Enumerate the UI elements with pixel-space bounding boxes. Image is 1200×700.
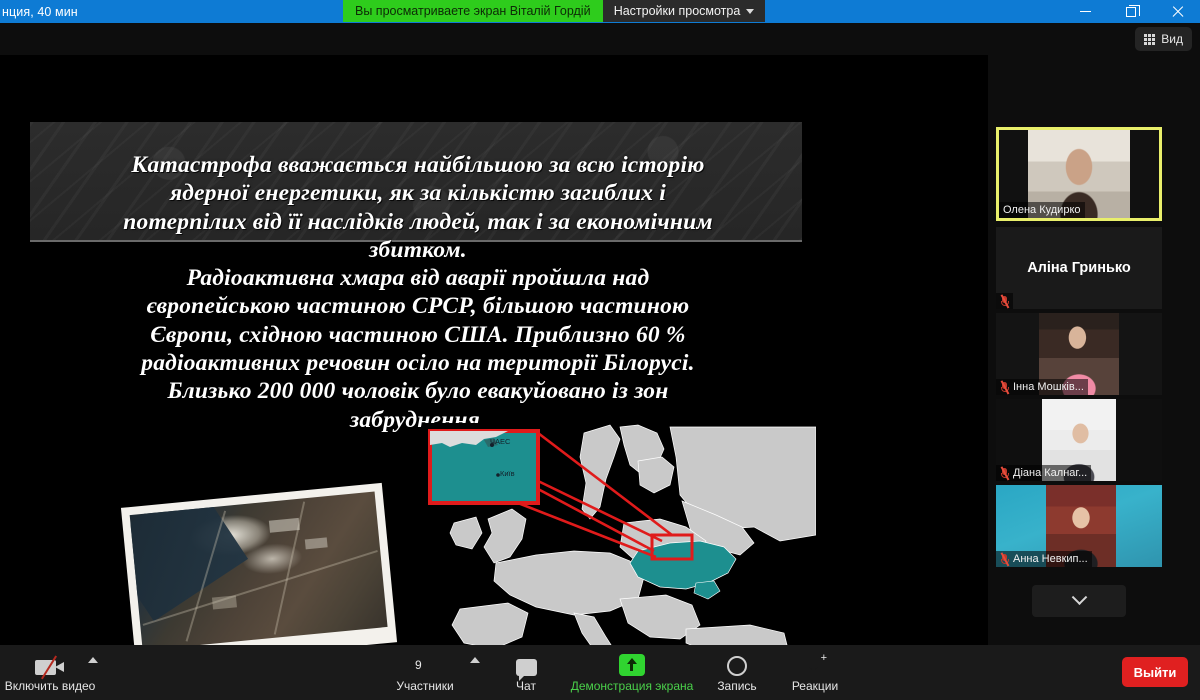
- people-icon: 9: [410, 649, 440, 676]
- close-icon: [1171, 5, 1184, 18]
- chevron-down-icon: [1071, 589, 1087, 605]
- slide-body-line: Близько 200 000 чоловік було евакуйовано…: [38, 377, 798, 405]
- grid-icon: [1144, 34, 1155, 45]
- participants-options-caret-icon[interactable]: [470, 657, 480, 663]
- participants-button[interactable]: 9 Участники: [383, 649, 467, 693]
- share-screen-label: Демонстрация экрана: [571, 679, 694, 693]
- zoom-meeting-window: нция, 40 мин Вы просматриваете экран Віт…: [0, 0, 1200, 700]
- participant-name: Анна Невкип...: [1013, 553, 1088, 565]
- participant-name: Аліна Гринько: [1027, 260, 1131, 276]
- slide-body-line: європейською частиною СРСР, більшою част…: [38, 292, 798, 320]
- participant-tile[interactable]: Діана Калнаг...: [996, 399, 1162, 481]
- smiley-plus-icon: +: [804, 649, 826, 676]
- slide-body-line: радіоактивних речовин осіло на території…: [38, 349, 798, 377]
- record-label: Запись: [717, 679, 756, 693]
- leave-meeting-label: Выйти: [1134, 665, 1177, 680]
- reactions-button[interactable]: + Реакции: [773, 649, 857, 693]
- participants-count: 9: [415, 658, 422, 672]
- participant-name-bar: [996, 293, 1013, 309]
- maximize-button[interactable]: [1108, 0, 1154, 23]
- leave-meeting-button[interactable]: Выйти: [1122, 657, 1188, 687]
- share-screen-button[interactable]: Демонстрация экрана: [570, 649, 694, 693]
- meeting-title: нция, 40 мин: [0, 5, 78, 19]
- video-options-caret-icon[interactable]: [88, 657, 98, 663]
- microphone-muted-icon: [1000, 381, 1009, 394]
- slide-text-block: Катастрофа вважається найбільшою за всю …: [38, 151, 798, 434]
- chat-bubble-icon: [516, 649, 537, 676]
- view-layout-button[interactable]: Вид: [1135, 27, 1192, 51]
- meeting-controls-toolbar: Включить видео 9 Участники Чат Демонстра…: [0, 645, 1200, 700]
- participant-rail: Олена Кудирко Аліна Гринько Інна Мошків.…: [988, 55, 1200, 645]
- participant-name-bar: Діана Калнаг...: [996, 465, 1091, 481]
- participant-name: Інна Мошків...: [1013, 381, 1084, 393]
- view-options-button[interactable]: Настройки просмотра: [603, 0, 765, 22]
- participants-label: Участники: [396, 679, 453, 693]
- title-bar: нция, 40 мин Вы просматриваете экран Віт…: [0, 0, 1200, 23]
- slide-body-line: Радіоактивна хмара від аварії пройшла на…: [38, 264, 798, 292]
- screen-share-banner: Вы просматриваете экран Віталій Гордій: [343, 0, 603, 22]
- participant-name-bar: Олена Кудирко: [999, 202, 1085, 218]
- slide-quote-line: потерпілих від її наслідків людей, так і…: [38, 208, 798, 236]
- participant-name-bar: Інна Мошків...: [996, 379, 1088, 395]
- chat-label: Чат: [516, 679, 536, 693]
- participant-tile-active[interactable]: Олена Кудирко: [996, 127, 1162, 221]
- minimize-button[interactable]: [1062, 0, 1108, 23]
- microphone-muted-icon: [1000, 553, 1009, 566]
- map-inset-label-kyiv: Київ: [500, 469, 515, 478]
- view-options-label: Настройки просмотра: [614, 4, 741, 18]
- map-inset-label-chaes: ЧАЕС: [490, 437, 510, 446]
- start-video-button[interactable]: Включить видео: [8, 649, 92, 693]
- share-screen-icon: [619, 649, 645, 676]
- slide-quote-line: ядерної енергетики, як за кількістю заги…: [38, 179, 798, 207]
- top-toolbar: Вид: [0, 23, 1200, 55]
- microphone-muted-icon: [1000, 467, 1009, 480]
- record-circle-icon: [727, 649, 747, 676]
- close-button[interactable]: [1154, 0, 1200, 23]
- slide-body-line: Європи, східною частиною США. Приблизно …: [38, 321, 798, 349]
- reactions-label: Реакции: [792, 679, 838, 693]
- nuclear-plant-photo: [121, 483, 397, 645]
- participant-name: Олена Кудирко: [1003, 204, 1081, 216]
- participant-tile[interactable]: Інна Мошків...: [996, 313, 1162, 395]
- participant-tile[interactable]: Аліна Гринько: [996, 227, 1162, 309]
- show-more-participants-button[interactable]: [1032, 585, 1126, 617]
- participant-tile[interactable]: Анна Невкип...: [996, 485, 1162, 567]
- participant-name-bar: Анна Невкип...: [996, 551, 1092, 567]
- participant-name: Діана Калнаг...: [1013, 467, 1087, 479]
- slide-quote-line: збитком.: [38, 236, 798, 264]
- chevron-down-icon: [746, 9, 754, 14]
- window-controls: [1062, 0, 1200, 23]
- slide-quote-line: Катастрофа вважається найбільшою за всю …: [38, 151, 798, 179]
- photo-image: [130, 492, 388, 645]
- maximize-icon: [1126, 7, 1136, 17]
- presentation-slide: Катастрофа вважається найбільшою за всю …: [0, 55, 930, 645]
- start-video-label: Включить видео: [5, 679, 96, 693]
- minimize-icon: [1080, 11, 1091, 12]
- europe-map: ЧАЕС Київ: [424, 423, 816, 645]
- shared-screen-stage[interactable]: Катастрофа вважається найбільшою за всю …: [0, 55, 988, 645]
- view-layout-label: Вид: [1161, 32, 1183, 46]
- camera-off-icon: [35, 649, 65, 676]
- chat-button[interactable]: Чат: [484, 649, 568, 693]
- participant-avatar-placeholder: Аліна Гринько: [996, 227, 1162, 309]
- microphone-muted-icon: [1000, 295, 1009, 308]
- record-button[interactable]: Запись: [695, 649, 779, 693]
